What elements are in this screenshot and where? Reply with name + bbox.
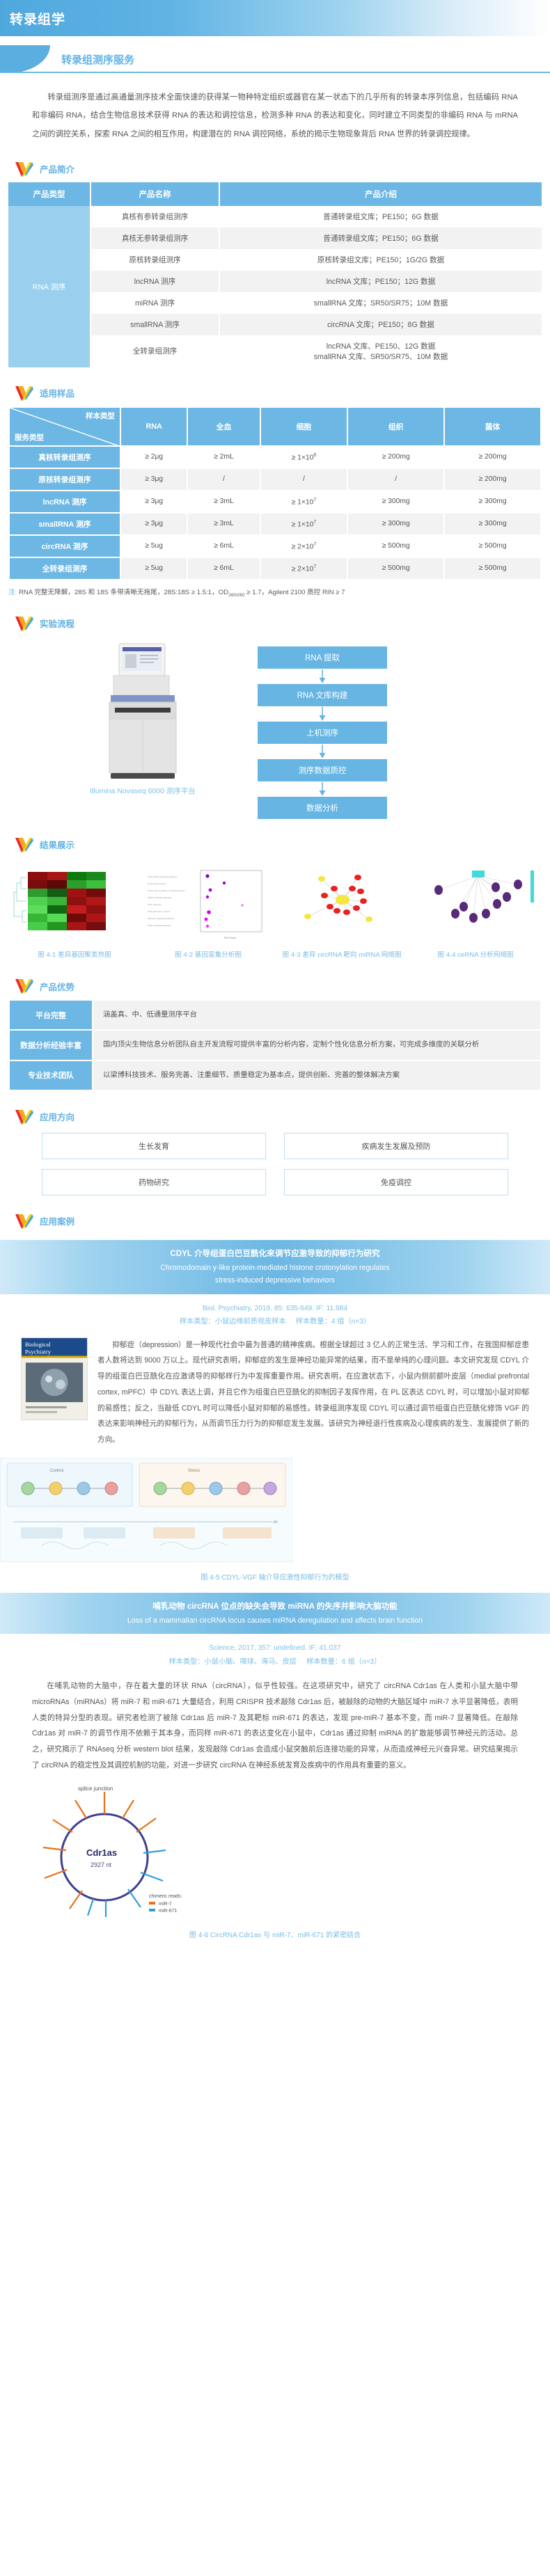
sample-value-cell: ≥ 2×107 bbox=[260, 535, 348, 557]
advantage-row: 专业技术团队以梁博科技技术、服务完善、注重细节、质量稳定为基本点，提供创新、完善… bbox=[9, 1060, 541, 1090]
case2-sample-count: 样本数量：6 组（n=3） bbox=[306, 1658, 381, 1666]
case1-journal: Biol. Psychiatry, 2019, 85: 635-649. IF:… bbox=[0, 1302, 550, 1315]
section-title: 产品简介 bbox=[40, 162, 74, 175]
section-title: 实验流程 bbox=[40, 617, 74, 630]
ribbon-label: 转录组测序服务 bbox=[61, 52, 134, 67]
sample-value-cell: ≥ 500mg bbox=[347, 557, 444, 580]
col-header-tissue: 组织 bbox=[347, 407, 444, 446]
section-header-cases: 应用案例 bbox=[15, 1214, 550, 1229]
check-mark-icon bbox=[15, 385, 33, 401]
product-name-cell: smallRNA 测序 bbox=[91, 314, 219, 335]
product-desc-cell: 普通转录组文库；PE150；6G 数据 bbox=[219, 228, 542, 249]
check-mark-icon bbox=[15, 161, 33, 177]
page-title: 转录组学 bbox=[10, 9, 65, 28]
col-header-type: 产品类型 bbox=[8, 182, 91, 206]
svg-text:Psychiatry: Psychiatry bbox=[25, 1348, 52, 1355]
sample-value-cell: ≥ 500mg bbox=[444, 535, 541, 557]
section-title: 结果展示 bbox=[40, 838, 74, 851]
sample-service-cell: 原核转录组测序 bbox=[9, 468, 120, 491]
case2-circrna-figure: splice junction Cdr1as 2927 nt chimeric … bbox=[0, 1781, 209, 1920]
figure-caption: 图 4-1 差异基因聚类热图 bbox=[13, 951, 136, 960]
page-banner: 转录组学 bbox=[0, 0, 550, 36]
svg-text:Stress: Stress bbox=[188, 1469, 200, 1473]
sample-value-cell: ≥ 2μg bbox=[120, 446, 187, 468]
sample-service-cell: 真核转录组测序 bbox=[9, 446, 120, 468]
transcriptomics-page: 转录组学 转录组测序服务 转录组测序是通过高通量测序技术全面快速的获得某一物种特… bbox=[0, 0, 550, 1957]
svg-text:Control: Control bbox=[50, 1469, 63, 1473]
sample-value-cell: ≥ 200mg bbox=[444, 446, 541, 468]
case1-figure-caption: 图 4-5 CDYL-VGF 轴介导应激性抑郁行为的模型 bbox=[0, 1571, 550, 1582]
figure-caption: 图 4-4 ceRNA 分析网络图 bbox=[414, 951, 537, 960]
section-header-sample: 适用样品 bbox=[15, 385, 550, 401]
case2-title-cn: 哺乳动物 circRNA 位点的缺失会导致 miRNA 的失序并影响大脑功能 bbox=[13, 1600, 537, 1614]
ribbon-shape bbox=[0, 45, 50, 73]
sequencer-machine-image bbox=[101, 642, 184, 781]
circrna-center-label: Cdr1as bbox=[86, 1847, 117, 1858]
product-name-cell: miRNA 测序 bbox=[91, 292, 219, 314]
product-name-cell: 原核转录组测序 bbox=[91, 249, 219, 271]
case1-body: 抑郁症（depression）是一种现代社会中最为普通的精神疾病。根据全球超过 … bbox=[97, 1337, 529, 1448]
sample-value-cell: ≥ 5ug bbox=[120, 535, 187, 557]
figure-caption: 图 4-2 基因富集分析图 bbox=[146, 951, 270, 960]
sample-service-cell: 全转录组测序 bbox=[9, 557, 120, 580]
case1-content: Biological Psychiatry 抑郁症（depression）是一种… bbox=[21, 1337, 529, 1448]
case2-sample-type: 样本类型：小鼠小脑、嗅球、海马、皮层 bbox=[169, 1658, 297, 1666]
section-title: 应用方向 bbox=[40, 1110, 74, 1123]
application-item[interactable]: 免疫调控 bbox=[284, 1169, 508, 1195]
product-name-cell: lncRNA 测序 bbox=[91, 271, 219, 292]
workflow-arrow-icon bbox=[258, 781, 387, 797]
sample-value-cell: ≥ 3mL bbox=[187, 513, 260, 535]
result-figure: 图 4-1 差异基因聚类热图 bbox=[13, 865, 136, 960]
table-row: 真核转录组测序≥ 2μg≥ 2mL≥ 1×106≥ 200mg≥ 200mg bbox=[9, 446, 541, 468]
case2-figure-caption: 图 4-6 CircRNA Cdr1as 与 miR-7、miR-671 的紧密… bbox=[0, 1929, 550, 1939]
heatmap-figure bbox=[13, 865, 136, 941]
sample-value-cell: ≥ 5ug bbox=[120, 557, 187, 580]
svg-text:Biological: Biological bbox=[25, 1340, 51, 1347]
splice-junction-label: splice junction bbox=[78, 1786, 113, 1792]
sample-value-cell: ≥ 6mL bbox=[187, 557, 260, 580]
cerna-network-figure bbox=[414, 865, 537, 941]
col-header-name: 产品名称 bbox=[91, 182, 219, 206]
case1-title-en-line1: Chromodomain y-like protein-mediated his… bbox=[13, 1262, 537, 1275]
result-figure: 图 4-3 差异 circRNA 靶向 miRNA 网络图 bbox=[280, 865, 404, 960]
workflow-arrow-icon bbox=[258, 744, 387, 759]
sample-value-cell: ≥ 1×106 bbox=[260, 446, 348, 468]
check-mark-icon bbox=[15, 837, 33, 852]
sample-value-cell: ≥ 3mL bbox=[187, 491, 260, 513]
col-header-blood: 全血 bbox=[187, 407, 260, 446]
svg-text:Endometrial cancer: Endometrial cancer bbox=[148, 882, 166, 885]
check-mark-icon bbox=[15, 1214, 33, 1229]
case2-body: 在哺乳动物的大脑中，存在着大量的环状 RNA（circRNA），似乎性较强。在这… bbox=[32, 1678, 518, 1774]
table-row: circRNA 测序≥ 5ug≥ 6mL≥ 2×107≥ 500mg≥ 500m… bbox=[9, 535, 541, 557]
sample-value-cell: ≥ 3μg bbox=[120, 491, 187, 513]
advantage-value: 国内顶尖生物信息分析团队自主开发流程可提供丰富的分析内容，定制个性化信息分析方案… bbox=[93, 1030, 541, 1060]
result-figure: Sphingolipid signaling pathway Endometri… bbox=[146, 865, 270, 960]
case1-sample-count: 样本数量：4 组（n=3） bbox=[296, 1318, 370, 1326]
workflow-step: RNA 提取 bbox=[258, 646, 387, 669]
sample-value-cell: ≥ 200mg bbox=[347, 446, 444, 468]
sample-value-cell: ≥ 1×107 bbox=[260, 491, 348, 513]
case2-title-banner: 哺乳动物 circRNA 位点的缺失会导致 miRNA 的失序并影响大脑功能 L… bbox=[0, 1593, 550, 1634]
legend-mir7: miR-7 bbox=[159, 1902, 172, 1907]
legend-mir671: miR-671 bbox=[159, 1909, 178, 1914]
sequencer-column: Illumina Novaseq 6000 测序平台 bbox=[28, 642, 258, 796]
product-table-header-row: 产品类型 产品名称 产品介绍 bbox=[8, 182, 542, 206]
workflow-step: 数据分析 bbox=[258, 797, 387, 819]
svg-text:Prion diseases: Prion diseases bbox=[148, 903, 162, 906]
sample-value-cell: ≥ 2mL bbox=[187, 446, 260, 468]
case1-model-figure: Control Stress bbox=[0, 1458, 292, 1562]
sample-value-cell: ≥ 500mg bbox=[444, 557, 541, 580]
sample-value-cell: ≥ 500mg bbox=[347, 535, 444, 557]
col-header-bacteria: 菌体 bbox=[444, 407, 541, 446]
table-row: lncRNA 测序≥ 3μg≥ 3mL≥ 1×107≥ 300mg≥ 300mg bbox=[9, 491, 541, 513]
sample-note: 注: RNA 完整无降解，28S 和 18S 条带清晰无拖尾，28S:18S ≥… bbox=[8, 587, 550, 598]
sample-table: 样本类型 服务类型 RNA 全血 细胞 组织 菌体 真核转录组测序≥ 2μg≥ … bbox=[8, 406, 542, 580]
check-mark-icon bbox=[15, 978, 33, 994]
svg-text:Adrenergic signaling in cardio: Adrenergic signaling in cardiomyocytes bbox=[148, 889, 185, 892]
figure-caption: 图 4-3 差异 circRNA 靶向 miRNA 网络图 bbox=[280, 951, 404, 960]
sample-service-cell: circRNA 测序 bbox=[9, 535, 120, 557]
advantage-key: 数据分析经验丰富 bbox=[9, 1030, 93, 1060]
section-header-results: 结果展示 bbox=[15, 837, 550, 852]
note-text: RNA 完整无降解，28S 和 18S 条带清晰无拖尾，28S:18S ≥ 1.… bbox=[19, 589, 345, 596]
product-desc-cell: smallRNA 文库；SR50/SR75；10M 数据 bbox=[219, 292, 542, 314]
case2-meta: Science, 2017, 357: undefined. IF: 41.03… bbox=[0, 1641, 550, 1669]
corner-label-service-type: 服务类型 bbox=[15, 432, 44, 443]
section-title: 应用案例 bbox=[40, 1214, 74, 1227]
case1-title-cn: CDYL 介导组蛋白巴豆酰化来调节应激导致的抑郁行为研究 bbox=[13, 1247, 537, 1262]
section-header-product: 产品简介 bbox=[15, 161, 550, 177]
advantage-key: 平台完整 bbox=[9, 1000, 93, 1030]
note-prefix: 注: bbox=[8, 589, 17, 596]
case1-meta: Biol. Psychiatry, 2019, 85: 635-649. IF:… bbox=[0, 1302, 550, 1329]
case2-samples: 样本类型：小鼠小脑、嗅球、海马、皮层 样本数量：6 组（n=3） bbox=[0, 1655, 550, 1669]
product-desc-cell: 普通转录组文库；PE150；6G 数据 bbox=[219, 206, 542, 228]
result-figure: 图 4-4 ceRNA 分析网络图 bbox=[414, 865, 537, 960]
svg-text:Rich Factor: Rich Factor bbox=[224, 937, 237, 939]
table-row: RNA 测序真核有参转录组测序普通转录组文库；PE150；6G 数据 bbox=[8, 206, 542, 228]
sample-value-cell: ≥ 200mg bbox=[444, 468, 541, 491]
chimeric-reads-label: chimeric reads: bbox=[149, 1894, 182, 1899]
sample-service-cell: smallRNA 测序 bbox=[9, 513, 120, 535]
advantage-value: 以梁博科技技术、服务完善、注重细节、质量稳定为基本点，提供创新、完善的整体解决方… bbox=[93, 1060, 541, 1090]
section-header-application: 应用方向 bbox=[15, 1109, 550, 1124]
workflow-step: RNA 文库构建 bbox=[258, 684, 387, 706]
sample-value-cell: ≥ 3μg bbox=[120, 468, 187, 491]
workflow-step: 测序数据质控 bbox=[258, 759, 387, 781]
advantage-row: 数据分析经验丰富国内顶尖生物信息分析团队自主开发流程可提供丰富的分析内容，定制个… bbox=[9, 1030, 541, 1060]
application-item[interactable]: 生长发育 bbox=[42, 1133, 266, 1159]
case1-sample-type: 样本类型：小鼠边缘前质视皮样本 bbox=[180, 1318, 286, 1326]
sample-value-cell: ≥ 2×107 bbox=[260, 557, 348, 580]
advantage-row: 平台完整涵盖真、中、低通量测序平台 bbox=[9, 1000, 541, 1030]
results-figures: 图 4-1 差异基因聚类热图 Sphingolipid signaling pa… bbox=[0, 858, 550, 960]
col-header-desc: 产品介绍 bbox=[219, 182, 542, 206]
workflow-arrow-icon bbox=[258, 669, 387, 684]
product-table: 产品类型 产品名称 产品介绍 RNA 测序真核有参转录组测序普通转录组文库；PE… bbox=[8, 182, 542, 367]
product-name-cell: 真核无参转录组测序 bbox=[91, 228, 219, 249]
check-mark-icon bbox=[15, 1109, 33, 1124]
enrichment-figure: Sphingolipid signaling pathway Endometri… bbox=[146, 865, 270, 941]
application-item[interactable]: 药物研究 bbox=[42, 1169, 266, 1195]
application-grid: 生长发育疾病发生发展及预防药物研究免疫调控 bbox=[42, 1133, 508, 1195]
advantage-key: 专业技术团队 bbox=[9, 1060, 93, 1090]
svg-text:Pathogenesis in cancer: Pathogenesis in cancer bbox=[148, 910, 170, 913]
table-row: smallRNA 测序≥ 3μg≥ 3mL≥ 1×107≥ 300mg≥ 300… bbox=[9, 513, 541, 535]
circrna-length-label: 2927 nt bbox=[91, 1861, 112, 1868]
section-header-workflow: 实验流程 bbox=[15, 616, 550, 631]
sample-value-cell: ≥ 300mg bbox=[347, 513, 444, 535]
svg-text:Sphingolipid signaling pathway: Sphingolipid signaling pathway bbox=[148, 875, 178, 878]
workflow-steps: RNA 提取RNA 文库构建上机测序测序数据质控数据分析 bbox=[258, 642, 522, 819]
section-title: 适用样品 bbox=[40, 386, 74, 399]
product-desc-cell: lncRNA 文库；PE150；12G 数据 bbox=[219, 271, 542, 292]
sample-value-cell: / bbox=[260, 468, 348, 491]
table-row: 全转录组测序≥ 5ug≥ 6mL≥ 2×107≥ 500mg≥ 500mg bbox=[9, 557, 541, 580]
sample-value-cell: ≥ 300mg bbox=[347, 491, 444, 513]
corner-diagonal-cell: 样本类型 服务类型 bbox=[9, 407, 120, 446]
section-header-advantage: 产品优势 bbox=[15, 978, 550, 994]
intro-paragraph: 转录组测序是通过高通量测序技术全面快速的获得某一物种特定组织或器官在某一状态下的… bbox=[32, 88, 518, 143]
sample-value-cell: ≥ 1×107 bbox=[260, 513, 348, 535]
svg-text:AMPK signaling pathway: AMPK signaling pathway bbox=[148, 896, 172, 899]
service-ribbon: 转录组测序服务 bbox=[0, 45, 550, 73]
sample-value-cell: ≥ 300mg bbox=[444, 513, 541, 535]
journal-cover-image: Biological Psychiatry bbox=[21, 1337, 88, 1421]
sample-value-cell: / bbox=[187, 468, 260, 491]
application-item[interactable]: 疾病发生发展及预防 bbox=[284, 1133, 508, 1159]
case1-title-en-line2: stress-induced depressive behaviors bbox=[13, 1274, 537, 1287]
sample-service-cell: lncRNA 测序 bbox=[9, 491, 120, 513]
corner-label-sample-type: 样本类型 bbox=[86, 411, 115, 421]
svg-text:Estrogen signaling pathway: Estrogen signaling pathway bbox=[148, 917, 174, 920]
case2-journal: Science, 2017, 357: undefined. IF: 41.03… bbox=[0, 1641, 550, 1655]
case1-samples: 样本类型：小鼠边缘前质视皮样本 样本数量：4 组（n=3） bbox=[0, 1315, 550, 1328]
workflow-area: Illumina Novaseq 6000 测序平台 RNA 提取RNA 文库构… bbox=[0, 642, 550, 819]
sample-value-cell: / bbox=[347, 468, 444, 491]
advantage-value: 涵盖真、中、低通量测序平台 bbox=[93, 1000, 541, 1030]
sample-value-cell: ≥ 3μg bbox=[120, 513, 187, 535]
sample-table-header-row: 样本类型 服务类型 RNA 全血 细胞 组织 菌体 bbox=[9, 407, 541, 446]
ribbon-rule bbox=[0, 72, 550, 73]
product-name-cell: 全转录组测序 bbox=[91, 335, 219, 367]
platform-caption: Illumina Novaseq 6000 测序平台 bbox=[90, 786, 196, 796]
case2-title-en: Loss of a mammalian circRNA locus causes… bbox=[13, 1614, 537, 1628]
product-desc-cell: 原核转录组文库；PE150；1G/2G 数据 bbox=[219, 249, 542, 271]
section-title: 产品优势 bbox=[40, 980, 74, 993]
table-row: 原核转录组测序≥ 3μg///≥ 200mg bbox=[9, 468, 541, 491]
product-name-cell: 真核有参转录组测序 bbox=[91, 206, 219, 228]
product-desc-cell: circRNA 文库；PE150；8G 数据 bbox=[219, 314, 542, 335]
svg-text:Hippo signaling pathway: Hippo signaling pathway bbox=[148, 924, 171, 927]
workflow-step: 上机测序 bbox=[258, 722, 387, 744]
circrna-network-figure bbox=[280, 865, 404, 941]
check-mark-icon bbox=[15, 616, 33, 631]
sample-value-cell: ≥ 300mg bbox=[444, 491, 541, 513]
advantages-table: 平台完整涵盖真、中、低通量测序平台数据分析经验丰富国内顶尖生物信息分析团队自主开… bbox=[8, 999, 542, 1091]
sample-value-cell: ≥ 6mL bbox=[187, 535, 260, 557]
product-desc-cell: lncRNA 文库、PE150、12G 数据smallRNA 文库、SR50/S… bbox=[219, 335, 542, 367]
product-category-cell: RNA 测序 bbox=[8, 206, 91, 367]
col-header-rna: RNA bbox=[120, 407, 187, 446]
col-header-cell: 细胞 bbox=[260, 407, 348, 446]
workflow-arrow-icon bbox=[258, 706, 387, 722]
case1-title-banner: CDYL 介导组蛋白巴豆酰化来调节应激导致的抑郁行为研究 Chromodomai… bbox=[0, 1240, 550, 1294]
